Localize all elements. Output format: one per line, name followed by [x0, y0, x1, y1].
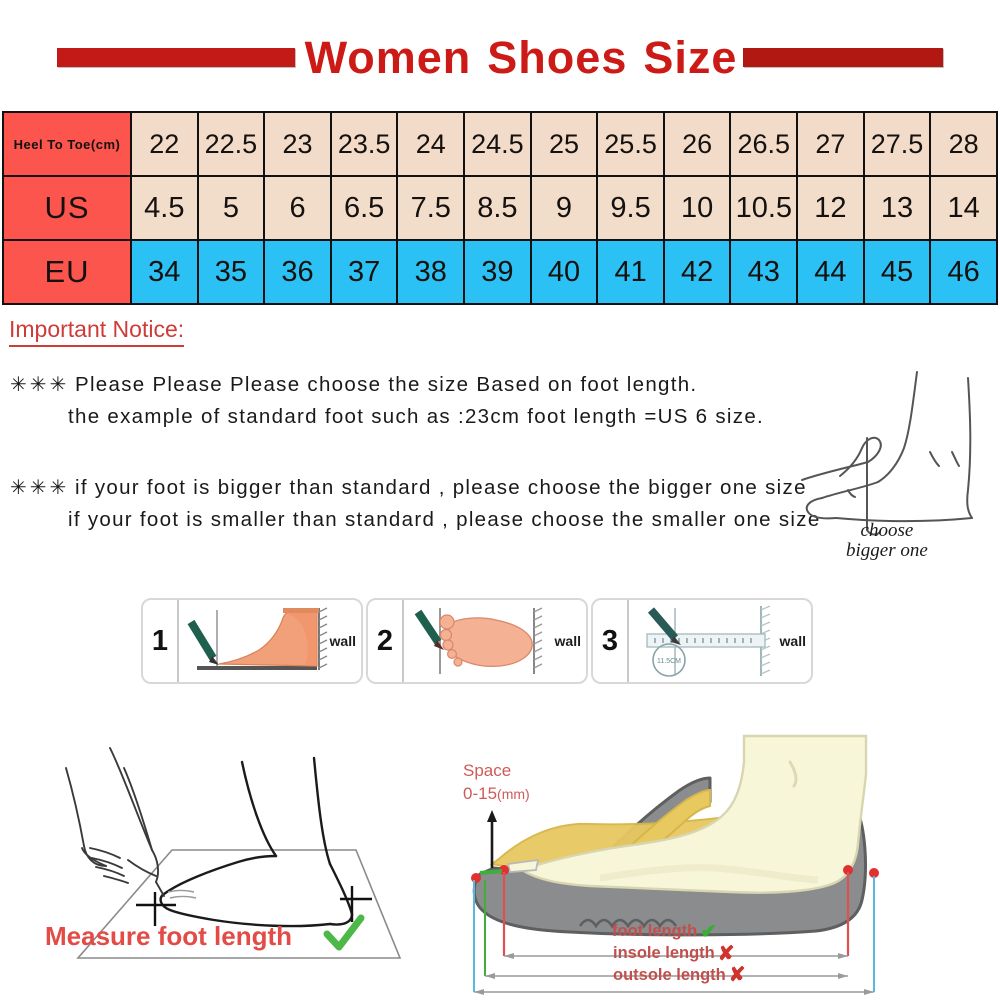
table-cell: 25.5	[597, 112, 664, 176]
table-cell: 34	[131, 240, 198, 304]
table-cell: 10.5	[730, 176, 797, 240]
table-cell: 44	[797, 240, 864, 304]
table-cell: 13	[864, 176, 931, 240]
notice-text: the example of standard foot such as :23…	[10, 401, 764, 433]
legend-row-insole-length: insole length ✘	[612, 943, 746, 965]
notice-block-1: ✳✳✳ Please Please Please choose the size…	[10, 369, 764, 433]
svg-text:11.5CM: 11.5CM	[657, 658, 681, 665]
notice-text: if your foot is smaller than standard , …	[10, 504, 821, 536]
table-cell: 23	[264, 112, 331, 176]
table-row-eu: EU 34 35 36 37 38 39 40 41 42 43 44 45 4…	[3, 240, 997, 304]
notice-text: if your foot is bigger than standard , p…	[75, 476, 807, 499]
table-cell: 25	[531, 112, 598, 176]
caption-line-2: bigger one	[846, 541, 928, 561]
check-mark-icon	[322, 912, 366, 956]
step-2-illustration: wall	[404, 600, 586, 682]
table-cell: 41	[597, 240, 664, 304]
table-cell: 24	[397, 112, 464, 176]
table-cell: 14	[930, 176, 997, 240]
cross-mark-icon: ✘	[718, 944, 735, 964]
table-cell: 9.5	[597, 176, 664, 240]
page-title: WomenShoesSize	[0, 26, 1000, 88]
table-cell: 45	[864, 240, 931, 304]
table-cell: 43	[730, 240, 797, 304]
table-cell: 27.5	[864, 112, 931, 176]
step-number: 3	[593, 600, 629, 682]
table-cell: 39	[464, 240, 531, 304]
insole-length-label: insole length	[613, 943, 715, 965]
table-cell: 6.5	[331, 176, 398, 240]
length-legend: foot length ✔ insole length ✘ outsole le…	[612, 921, 746, 986]
table-cell: 37	[331, 240, 398, 304]
title-decor-bar-left	[57, 48, 295, 67]
table-row-heel-to-toe: Heel To Toe(cm) 22 22.5 23 23.5 24 24.5 …	[3, 112, 997, 176]
table-cell: 38	[397, 240, 464, 304]
cross-mark-icon: ✘	[729, 965, 746, 985]
table-cell: 6	[264, 176, 331, 240]
check-mark-icon: ✔	[700, 922, 717, 942]
space-unit: (mm)	[497, 786, 530, 802]
legend-row-foot-length: foot length ✔	[612, 921, 746, 943]
step-3: 3	[591, 598, 813, 684]
title-decor-bar-right	[743, 48, 943, 67]
table-cell: 42	[664, 240, 731, 304]
notice-line: ✳✳✳ Please Please Please choose the size…	[10, 369, 764, 401]
legend-row-outsole-length: outsole length ✘	[612, 965, 746, 987]
table-cell: 26.5	[730, 112, 797, 176]
table-cell: 35	[198, 240, 265, 304]
step-1-illustration: wall	[179, 600, 361, 682]
choose-bigger-one-caption: choose bigger one	[846, 521, 928, 561]
outsole-length-label: outsole length	[613, 965, 726, 987]
notice-block-2: ✳✳✳ if your foot is bigger than standard…	[10, 472, 821, 536]
wall-label: wall	[780, 633, 806, 649]
size-chart-page: WomenShoesSize Heel To Toe(cm) 22 22.5 2…	[0, 0, 1000, 1000]
notice-line: ✳✳✳ if your foot is bigger than standard…	[10, 472, 821, 504]
wall-label: wall	[555, 633, 581, 649]
asterisk-icon: ✳✳✳	[10, 374, 69, 396]
space-value: 0-15	[463, 784, 497, 803]
table-cell: 22	[131, 112, 198, 176]
step-1: 1	[141, 598, 363, 684]
table-cell: 5	[198, 176, 265, 240]
table-cell: 36	[264, 240, 331, 304]
table-cell: 7.5	[397, 176, 464, 240]
table-cell: 12	[797, 176, 864, 240]
step-3-illustration: 11.5CM wall	[629, 600, 811, 682]
row-label-heel-to-toe: Heel To Toe(cm)	[3, 112, 131, 176]
title-word-size: Size	[643, 32, 737, 83]
size-conversion-table: Heel To Toe(cm) 22 22.5 23 23.5 24 24.5 …	[2, 111, 998, 305]
row-label-us: US	[3, 176, 131, 240]
table-row-us: US 4.5 5 6 6.5 7.5 8.5 9 9.5 10 10.5 12 …	[3, 176, 997, 240]
title-word-shoes: Shoes	[487, 32, 627, 83]
table-cell: 24.5	[464, 112, 531, 176]
table-cell: 10	[664, 176, 731, 240]
space-label-line-1: Space	[463, 760, 530, 783]
wall-label: wall	[330, 633, 356, 649]
space-label-line-2: 0-15(mm)	[463, 783, 530, 806]
asterisk-icon: ✳✳✳	[10, 477, 69, 499]
row-label-eu: EU	[3, 240, 131, 304]
caption-line-1: choose	[846, 521, 928, 541]
table-cell: 28	[930, 112, 997, 176]
measuring-steps: 1	[141, 598, 813, 684]
measure-foot-length-caption: Measure foot length	[45, 921, 292, 952]
table-cell: 27	[797, 112, 864, 176]
space-measurement-label: Space 0-15(mm)	[463, 760, 530, 806]
table-cell: 26	[664, 112, 731, 176]
step-number: 1	[143, 600, 179, 682]
table-cell: 8.5	[464, 176, 531, 240]
table-cell: 40	[531, 240, 598, 304]
title-text: WomenShoesSize	[305, 35, 738, 80]
important-notice-heading: Important Notice:	[9, 316, 184, 347]
table-cell: 23.5	[331, 112, 398, 176]
foot-length-label: foot length	[612, 921, 697, 943]
step-number: 2	[368, 600, 404, 682]
table-cell: 22.5	[198, 112, 265, 176]
step-2: 2	[366, 598, 588, 684]
notice-text: Please Please Please choose the size Bas…	[75, 373, 697, 396]
table-cell: 9	[531, 176, 598, 240]
title-word-women: Women	[305, 32, 472, 83]
table-cell: 46	[930, 240, 997, 304]
table-cell: 4.5	[131, 176, 198, 240]
